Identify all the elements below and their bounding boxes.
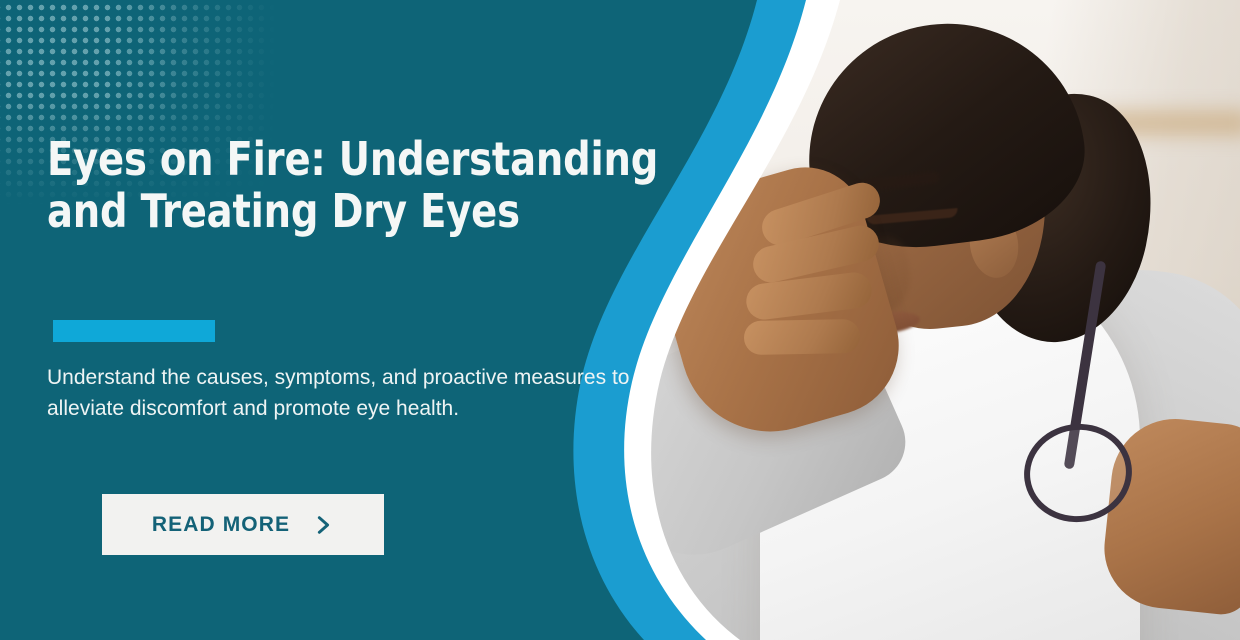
read-more-label: READ MORE	[152, 513, 290, 537]
hero-subtext: Understand the causes, symptoms, and pro…	[47, 362, 647, 424]
hero-banner: Eyes on Fire: Understanding and Treating…	[0, 0, 1240, 640]
page-title: Eyes on Fire: Understanding and Treating…	[47, 133, 698, 237]
chevron-right-icon	[312, 514, 334, 536]
read-more-button[interactable]: READ MORE	[102, 494, 384, 555]
finger	[744, 319, 861, 355]
accent-bar	[53, 320, 215, 342]
